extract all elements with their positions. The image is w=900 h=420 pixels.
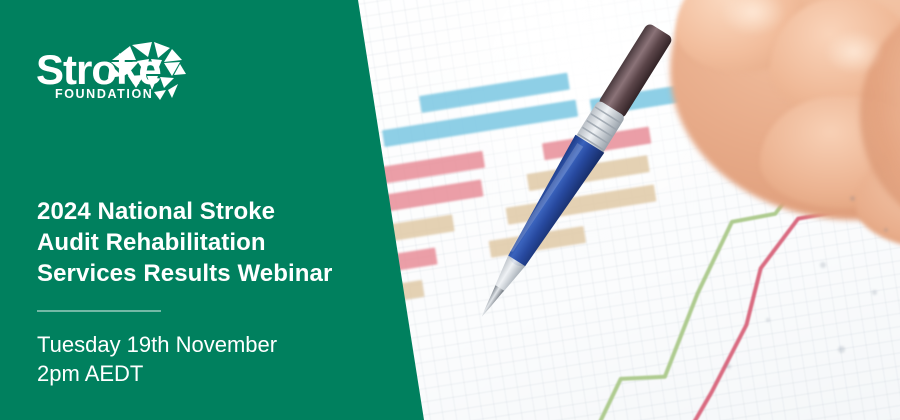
title-line-3: Services Results Webinar [37, 258, 367, 289]
title-line-2: Audit Rehabilitation [37, 227, 367, 258]
paper-speck [766, 318, 770, 322]
paper-speck [820, 262, 826, 268]
event-date: Tuesday 19th November [37, 330, 367, 359]
paper-speck [726, 364, 731, 369]
logo-wordmark: Stroke [36, 46, 161, 93]
event-datetime: Tuesday 19th November 2pm AEDT [37, 330, 367, 388]
logo-subword: FOUNDATION [55, 87, 153, 100]
paper-speck [884, 228, 888, 232]
page-title: 2024 National Stroke Audit Rehabilitatio… [37, 196, 367, 289]
paper-speck [850, 196, 855, 201]
title-divider [37, 310, 161, 312]
stroke-foundation-logo[interactable]: Stroke FOUNDATION [36, 38, 216, 100]
event-time: 2pm AEDT [37, 359, 367, 388]
paper-speck [872, 290, 877, 295]
chart-bar [382, 100, 578, 147]
webinar-promo-banner: Stroke FOUNDATION 2024 National Stroke A… [0, 0, 900, 420]
title-line-1: 2024 National Stroke [37, 196, 367, 227]
paper-speck [838, 346, 845, 353]
